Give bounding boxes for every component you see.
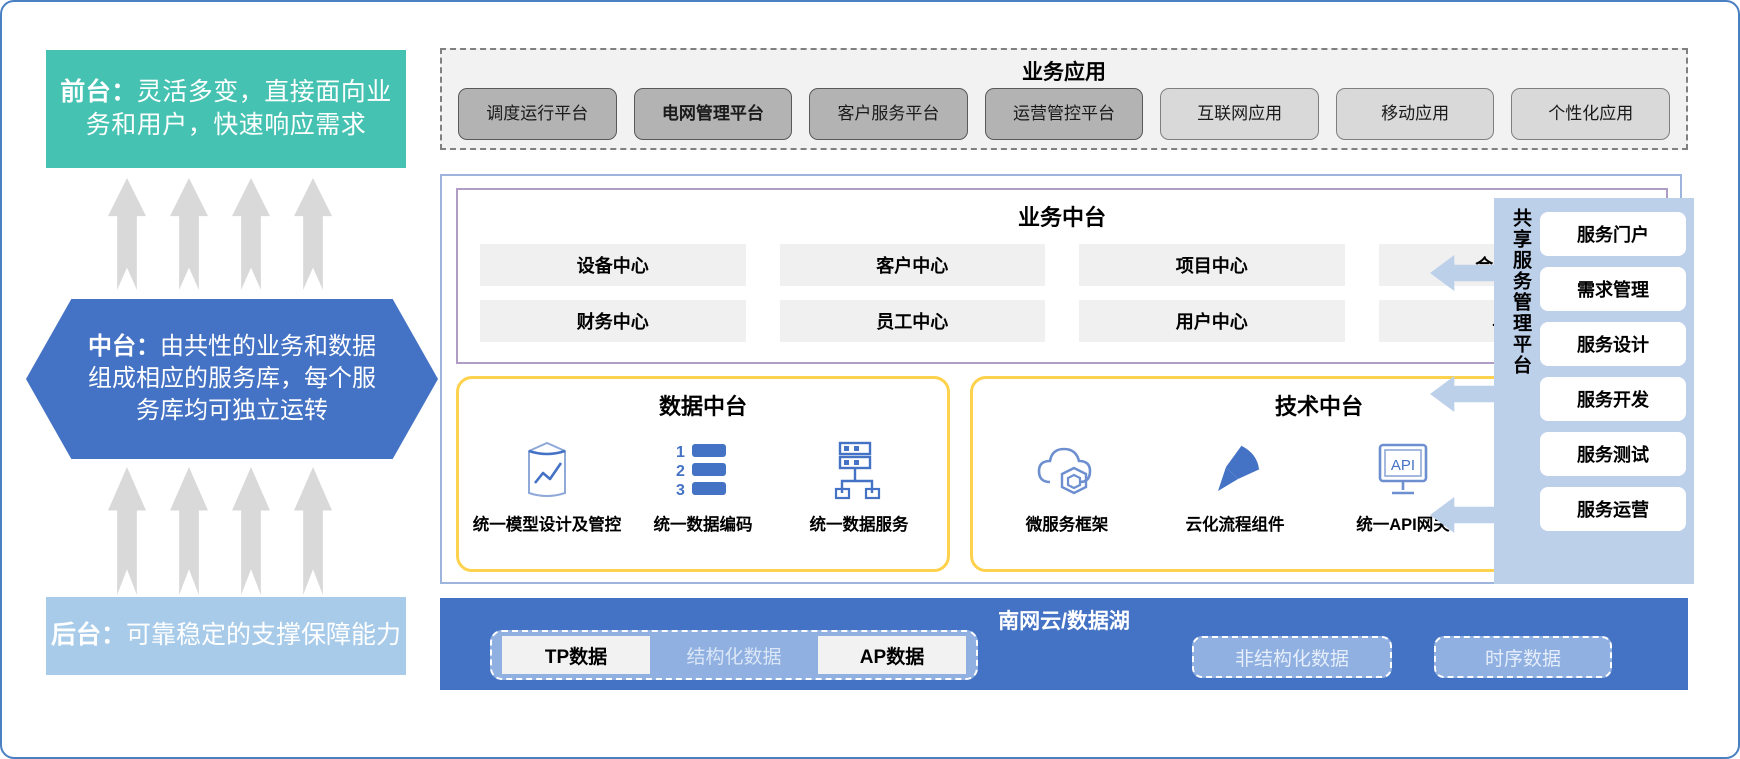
back-stage-desc: 可靠稳定的支撑保障能力	[126, 621, 401, 649]
back-stage-label: 后台：	[51, 621, 126, 649]
shared-service-title: 共享服务管理平台	[1500, 208, 1532, 376]
data-item-model-design[interactable]: 统一模型设计及管控	[469, 433, 625, 535]
app-card-internet-apps-label: 互联网应用	[1197, 104, 1282, 124]
business-applications-row: 调度运行平台 电网管理平台 客户服务平台 运营管控平台 互联网应用 移动应用 个…	[458, 88, 1670, 140]
middle-stage-hexagon: 中台：由共性的业务和数据组成相应的服务库，每个服务库均可独立运转	[26, 299, 438, 459]
app-card-personalized-apps-label: 个性化应用	[1548, 104, 1633, 124]
app-card-dispatch[interactable]: 调度运行平台	[458, 88, 617, 140]
shared-btn-portal[interactable]: 服务门户	[1540, 212, 1686, 256]
svg-text:1: 1	[676, 444, 685, 461]
shared-btn-requirement[interactable]: 需求管理	[1540, 267, 1686, 311]
data-center-title: 数据中台	[459, 379, 947, 421]
app-card-operations-control[interactable]: 运营管控平台	[985, 88, 1144, 140]
middle-stage-text: 中台：由共性的业务和数据组成相应的服务库，每个服务库均可独立运转	[82, 331, 382, 427]
structured-data-group: TP数据 结构化数据 AP数据	[490, 630, 978, 680]
arrow-up-5	[108, 467, 146, 595]
business-applications-panel: 业务应用 调度运行平台 电网管理平台 客户服务平台 运营管控平台 互联网应用 移…	[440, 48, 1688, 150]
data-center-panel: 数据中台 统一模型设计及管控 1	[456, 376, 950, 572]
structured-data-label: 结构化数据	[660, 642, 808, 669]
arrow-up-4	[294, 178, 332, 290]
front-stage-text: 前台：灵活多变，直接面向业务和用户，快速响应需求	[60, 76, 392, 143]
arrow-up-8	[294, 467, 332, 595]
diagram-root: 前台：灵活多变，直接面向业务和用户，快速响应需求 中台：由共性的业务和数据组成相…	[0, 0, 1740, 759]
app-card-customer-service[interactable]: 客户服务平台	[809, 88, 968, 140]
arrow-up-7	[232, 467, 270, 595]
svg-text:2: 2	[676, 463, 685, 480]
center-cell-customer[interactable]: 客户中心	[780, 244, 1046, 286]
app-card-personalized-apps[interactable]: 个性化应用	[1511, 88, 1670, 140]
arrow-up-2	[170, 178, 208, 290]
app-card-dispatch-label: 调度运行平台	[486, 104, 588, 124]
data-item-data-service[interactable]: 统一数据服务	[781, 433, 937, 535]
model-chart-box-icon	[519, 433, 575, 507]
shared-btn-testing[interactable]: 服务测试	[1540, 432, 1686, 476]
app-card-internet-apps[interactable]: 互联网应用	[1160, 88, 1319, 140]
arrow-up-3	[232, 178, 270, 290]
data-item-data-encoding[interactable]: 1 2 3 统一数据编码	[625, 433, 781, 535]
shared-service-panel: 共享服务管理平台 服务门户 需求管理 服务设计 服务开发 服务测试 服务运营	[1494, 198, 1694, 584]
data-item-model-design-label: 统一模型设计及管控	[473, 511, 622, 535]
business-center-grid: 设备中心 客户中心 项目中心 合同中心 财务中心 员工中心 用户中心 ……	[458, 232, 1666, 342]
front-stage-label: 前台：	[60, 78, 137, 106]
center-cell-equipment[interactable]: 设备中心	[480, 244, 746, 286]
pin-process-icon	[1204, 433, 1266, 507]
tech-item-microservice[interactable]: 微服务框架	[987, 433, 1147, 535]
arrow-up-6	[170, 467, 208, 595]
arrow-up-1	[108, 178, 146, 290]
app-card-mobile-apps-label: 移动应用	[1381, 104, 1449, 124]
business-applications-title: 业务应用	[442, 56, 1686, 86]
data-service-icon	[830, 433, 888, 507]
shared-btn-development[interactable]: 服务开发	[1540, 377, 1686, 421]
shared-btn-design[interactable]: 服务设计	[1540, 322, 1686, 366]
tech-item-cloud-process[interactable]: 云化流程组件	[1155, 433, 1315, 535]
tech-item-microservice-label: 微服务框架	[1026, 511, 1109, 535]
back-stage-text: 后台：可靠稳定的支撑保障能力	[51, 619, 401, 653]
svg-text:API: API	[1391, 457, 1415, 474]
app-card-grid-management-label: 电网管理平台	[662, 104, 764, 124]
app-card-customer-service-label: 客户服务平台	[837, 104, 939, 124]
center-cell-employee[interactable]: 员工中心	[780, 300, 1046, 342]
timeseries-data-chip[interactable]: 时序数据	[1434, 636, 1612, 678]
api-gateway-icon: API	[1372, 433, 1434, 507]
data-item-data-encoding-label: 统一数据编码	[654, 511, 753, 535]
left-column: 前台：灵活多变，直接面向业务和用户，快速响应需求 中台：由共性的业务和数据组成相…	[46, 2, 406, 759]
business-center-title: 业务中台	[458, 190, 1666, 232]
front-stage-box: 前台：灵活多变，直接面向业务和用户，快速响应需求	[46, 50, 406, 168]
app-card-mobile-apps[interactable]: 移动应用	[1336, 88, 1495, 140]
center-cell-project[interactable]: 项目中心	[1079, 244, 1345, 286]
cloud-microservice-icon	[1034, 433, 1100, 507]
back-stage-box: 后台：可靠稳定的支撑保障能力	[46, 597, 406, 675]
app-card-operations-control-label: 运营管控平台	[1013, 104, 1115, 124]
tech-item-cloud-process-label: 云化流程组件	[1186, 511, 1285, 535]
numbered-list-icon: 1 2 3	[672, 433, 734, 507]
center-cell-finance[interactable]: 财务中心	[480, 300, 746, 342]
app-card-grid-management[interactable]: 电网管理平台	[634, 88, 793, 140]
data-center-icons: 统一模型设计及管控 1 2 3 统一数据编码	[459, 421, 947, 535]
ap-data-chip[interactable]: AP数据	[818, 636, 966, 674]
center-cell-user[interactable]: 用户中心	[1079, 300, 1345, 342]
data-item-data-service-label: 统一数据服务	[810, 511, 909, 535]
shared-btn-operation[interactable]: 服务运营	[1540, 487, 1686, 531]
svg-text:3: 3	[676, 482, 685, 499]
middle-stage-label: 中台：	[88, 333, 160, 360]
unstructured-data-chip[interactable]: 非结构化数据	[1192, 636, 1392, 678]
tp-data-chip[interactable]: TP数据	[502, 636, 650, 674]
shared-service-list: 服务门户 需求管理 服务设计 服务开发 服务测试 服务运营	[1540, 212, 1686, 531]
